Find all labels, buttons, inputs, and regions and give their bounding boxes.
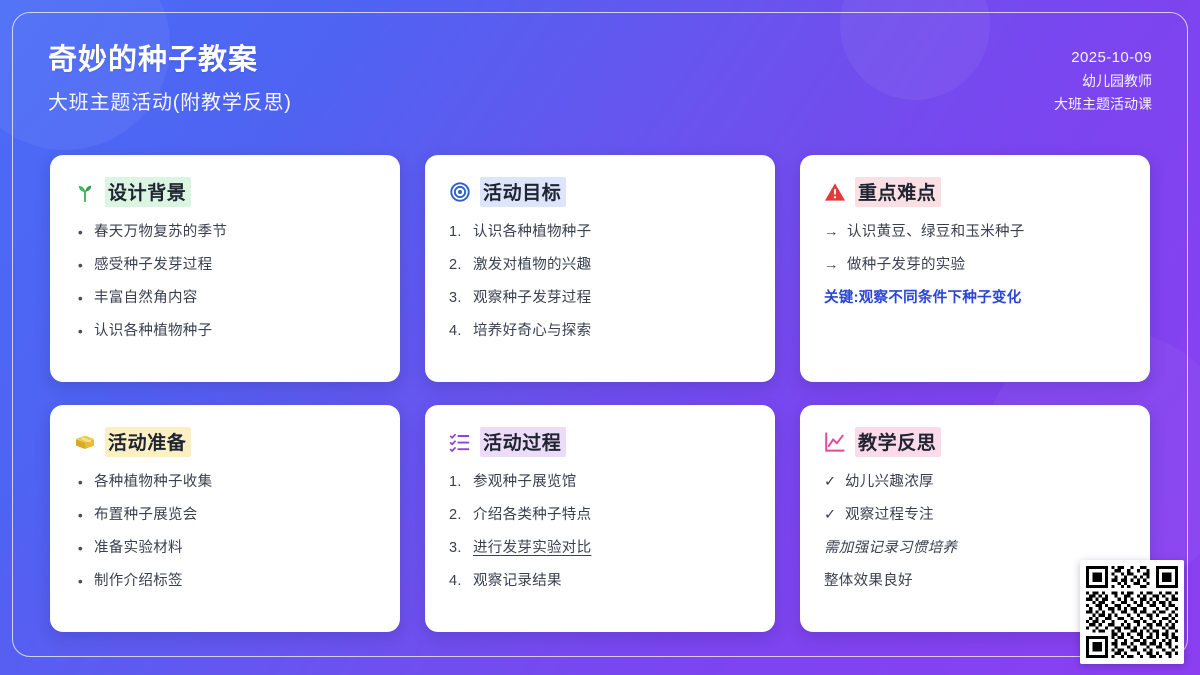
list-item: →认识黄豆、绿豆和玉米种子 [824, 222, 1126, 243]
checklist-icon [449, 431, 471, 453]
list-item-marker: • [74, 505, 87, 525]
list-item: •布置种子展览会 [74, 505, 376, 526]
list-item-text: 丰富自然角内容 [94, 288, 376, 309]
list-item-marker: • [74, 321, 87, 341]
list-item-marker: ✓ [824, 505, 838, 526]
list-item: ✓幼儿兴趣浓厚 [824, 472, 1126, 493]
list-item-marker: • [74, 472, 87, 492]
list-item: 4.观察记录结果 [449, 571, 751, 592]
list-item-text: 观察过程专注 [845, 505, 1126, 526]
list-item-marker: 3. [449, 538, 466, 559]
list-item-text: 观察记录结果 [473, 571, 751, 592]
page-title: 奇妙的种子教案 [48, 44, 1152, 77]
list-item-text: 需加强记录习惯培养 [824, 538, 1126, 559]
list-item: 1.参观种子展览馆 [449, 472, 751, 493]
qr-code [1086, 566, 1178, 658]
list-item: •准备实验材料 [74, 538, 376, 559]
list-item-marker: • [74, 255, 87, 275]
list-item-text: 关键:观察不同条件下种子变化 [824, 288, 1126, 309]
card-key-difficulties: 重点难点→认识黄豆、绿豆和玉米种子→做种子发芽的实验关键:观察不同条件下种子变化 [800, 155, 1150, 382]
list-item-text: 准备实验材料 [94, 538, 376, 559]
card-title: 教学反思 [855, 427, 941, 457]
meta-course: 大班主题活动课 [1054, 93, 1152, 116]
list-item-text: 认识黄豆、绿豆和玉米种子 [847, 222, 1126, 243]
list-item: •春天万物复苏的季节 [74, 222, 376, 243]
list-item: •认识各种植物种子 [74, 321, 376, 342]
list-item-marker: → [824, 222, 840, 243]
chart-line-icon [824, 431, 846, 453]
card-title: 重点难点 [855, 177, 941, 207]
card-item-list: →认识黄豆、绿豆和玉米种子→做种子发芽的实验关键:观察不同条件下种子变化 [824, 222, 1126, 309]
list-item-marker: ✓ [824, 472, 838, 493]
card-grid: 设计背景•春天万物复苏的季节•感受种子发芽过程•丰富自然角内容•认识各种植物种子… [50, 155, 1150, 632]
list-item: 2.介绍各类种子特点 [449, 505, 751, 526]
card-header: 重点难点 [824, 177, 1126, 207]
header-meta: 2025-10-09 幼儿园教师 大班主题活动课 [1054, 46, 1152, 116]
card-header: 活动目标 [449, 177, 751, 207]
list-item-marker: → [824, 255, 840, 276]
list-item-marker: • [74, 222, 87, 242]
card-design-background: 设计背景•春天万物复苏的季节•感受种子发芽过程•丰富自然角内容•认识各种植物种子 [50, 155, 400, 382]
target-icon [449, 181, 471, 203]
card-title: 活动准备 [105, 427, 191, 457]
list-item-text: 介绍各类种子特点 [473, 505, 751, 526]
list-item-marker: 2. [449, 505, 466, 526]
list-item: •感受种子发芽过程 [74, 255, 376, 276]
list-item-marker: • [74, 538, 87, 558]
card-title: 活动目标 [480, 177, 566, 207]
slide-page: 奇妙的种子教案 大班主题活动(附教学反思) 2025-10-09 幼儿园教师 大… [0, 0, 1200, 675]
list-item-text: 各种植物种子收集 [94, 472, 376, 493]
list-item: 4.培养好奇心与探索 [449, 321, 751, 342]
card-item-list: 1.认识各种植物种子2.激发对植物的兴趣3.观察种子发芽过程4.培养好奇心与探索 [449, 222, 751, 342]
card-title: 活动过程 [480, 427, 566, 457]
list-item: 3.进行发芽实验对比 [449, 538, 751, 559]
list-item-marker: • [74, 571, 87, 591]
list-item: ✓观察过程专注 [824, 505, 1126, 526]
list-item-marker: 4. [449, 321, 466, 342]
warning-triangle-icon [824, 181, 846, 203]
list-item-marker: 1. [449, 472, 466, 493]
list-item-text: 布置种子展览会 [94, 505, 376, 526]
card-activity-process: 活动过程1.参观种子展览馆2.介绍各类种子特点3.进行发芽实验对比4.观察记录结… [425, 405, 775, 632]
card-header: 教学反思 [824, 427, 1126, 457]
list-item-marker: 2. [449, 255, 466, 276]
page-subtitle: 大班主题活动(附教学反思) [48, 86, 1152, 115]
list-item-text: 认识各种植物种子 [94, 321, 376, 342]
list-item-text: 感受种子发芽过程 [94, 255, 376, 276]
card-item-list: •春天万物复苏的季节•感受种子发芽过程•丰富自然角内容•认识各种植物种子 [74, 222, 376, 342]
package-box-icon [74, 431, 96, 453]
card-item-list: •各种植物种子收集•布置种子展览会•准备实验材料•制作介绍标签 [74, 472, 376, 592]
list-item-marker: • [74, 288, 87, 308]
meta-date: 2025-10-09 [1054, 46, 1152, 70]
list-item-marker: 1. [449, 222, 466, 243]
list-item-text: 制作介绍标签 [94, 571, 376, 592]
card-header: 活动过程 [449, 427, 751, 457]
list-item: 需加强记录习惯培养 [824, 538, 1126, 559]
list-item: •丰富自然角内容 [74, 288, 376, 309]
list-item-text: 幼儿兴趣浓厚 [845, 472, 1126, 493]
list-item: 3.观察种子发芽过程 [449, 288, 751, 309]
list-item: 1.认识各种植物种子 [449, 222, 751, 243]
list-item-marker: 3. [449, 288, 466, 309]
list-item-text: 培养好奇心与探索 [473, 321, 751, 342]
list-item: •制作介绍标签 [74, 571, 376, 592]
list-item-text: 参观种子展览馆 [473, 472, 751, 493]
list-item-text: 做种子发芽的实验 [847, 255, 1126, 276]
card-header: 活动准备 [74, 427, 376, 457]
list-item-text: 激发对植物的兴趣 [473, 255, 751, 276]
list-item: →做种子发芽的实验 [824, 255, 1126, 276]
list-item-text: 进行发芽实验对比 [473, 538, 751, 559]
card-activity-preparation: 活动准备•各种植物种子收集•布置种子展览会•准备实验材料•制作介绍标签 [50, 405, 400, 632]
seedling-icon [74, 181, 96, 203]
qr-code-card[interactable] [1080, 560, 1184, 664]
list-item: 关键:观察不同条件下种子变化 [824, 288, 1126, 309]
list-item-marker: 4. [449, 571, 466, 592]
card-title: 设计背景 [105, 177, 191, 207]
meta-author: 幼儿园教师 [1054, 70, 1152, 93]
list-item: 2.激发对植物的兴趣 [449, 255, 751, 276]
list-item: •各种植物种子收集 [74, 472, 376, 493]
slide-header: 奇妙的种子教案 大班主题活动(附教学反思) 2025-10-09 幼儿园教师 大… [48, 44, 1152, 136]
card-activity-goals: 活动目标1.认识各种植物种子2.激发对植物的兴趣3.观察种子发芽过程4.培养好奇… [425, 155, 775, 382]
card-header: 设计背景 [74, 177, 376, 207]
list-item-text: 观察种子发芽过程 [473, 288, 751, 309]
card-item-list: 1.参观种子展览馆2.介绍各类种子特点3.进行发芽实验对比4.观察记录结果 [449, 472, 751, 592]
list-item-text: 春天万物复苏的季节 [94, 222, 376, 243]
list-item-text: 认识各种植物种子 [473, 222, 751, 243]
